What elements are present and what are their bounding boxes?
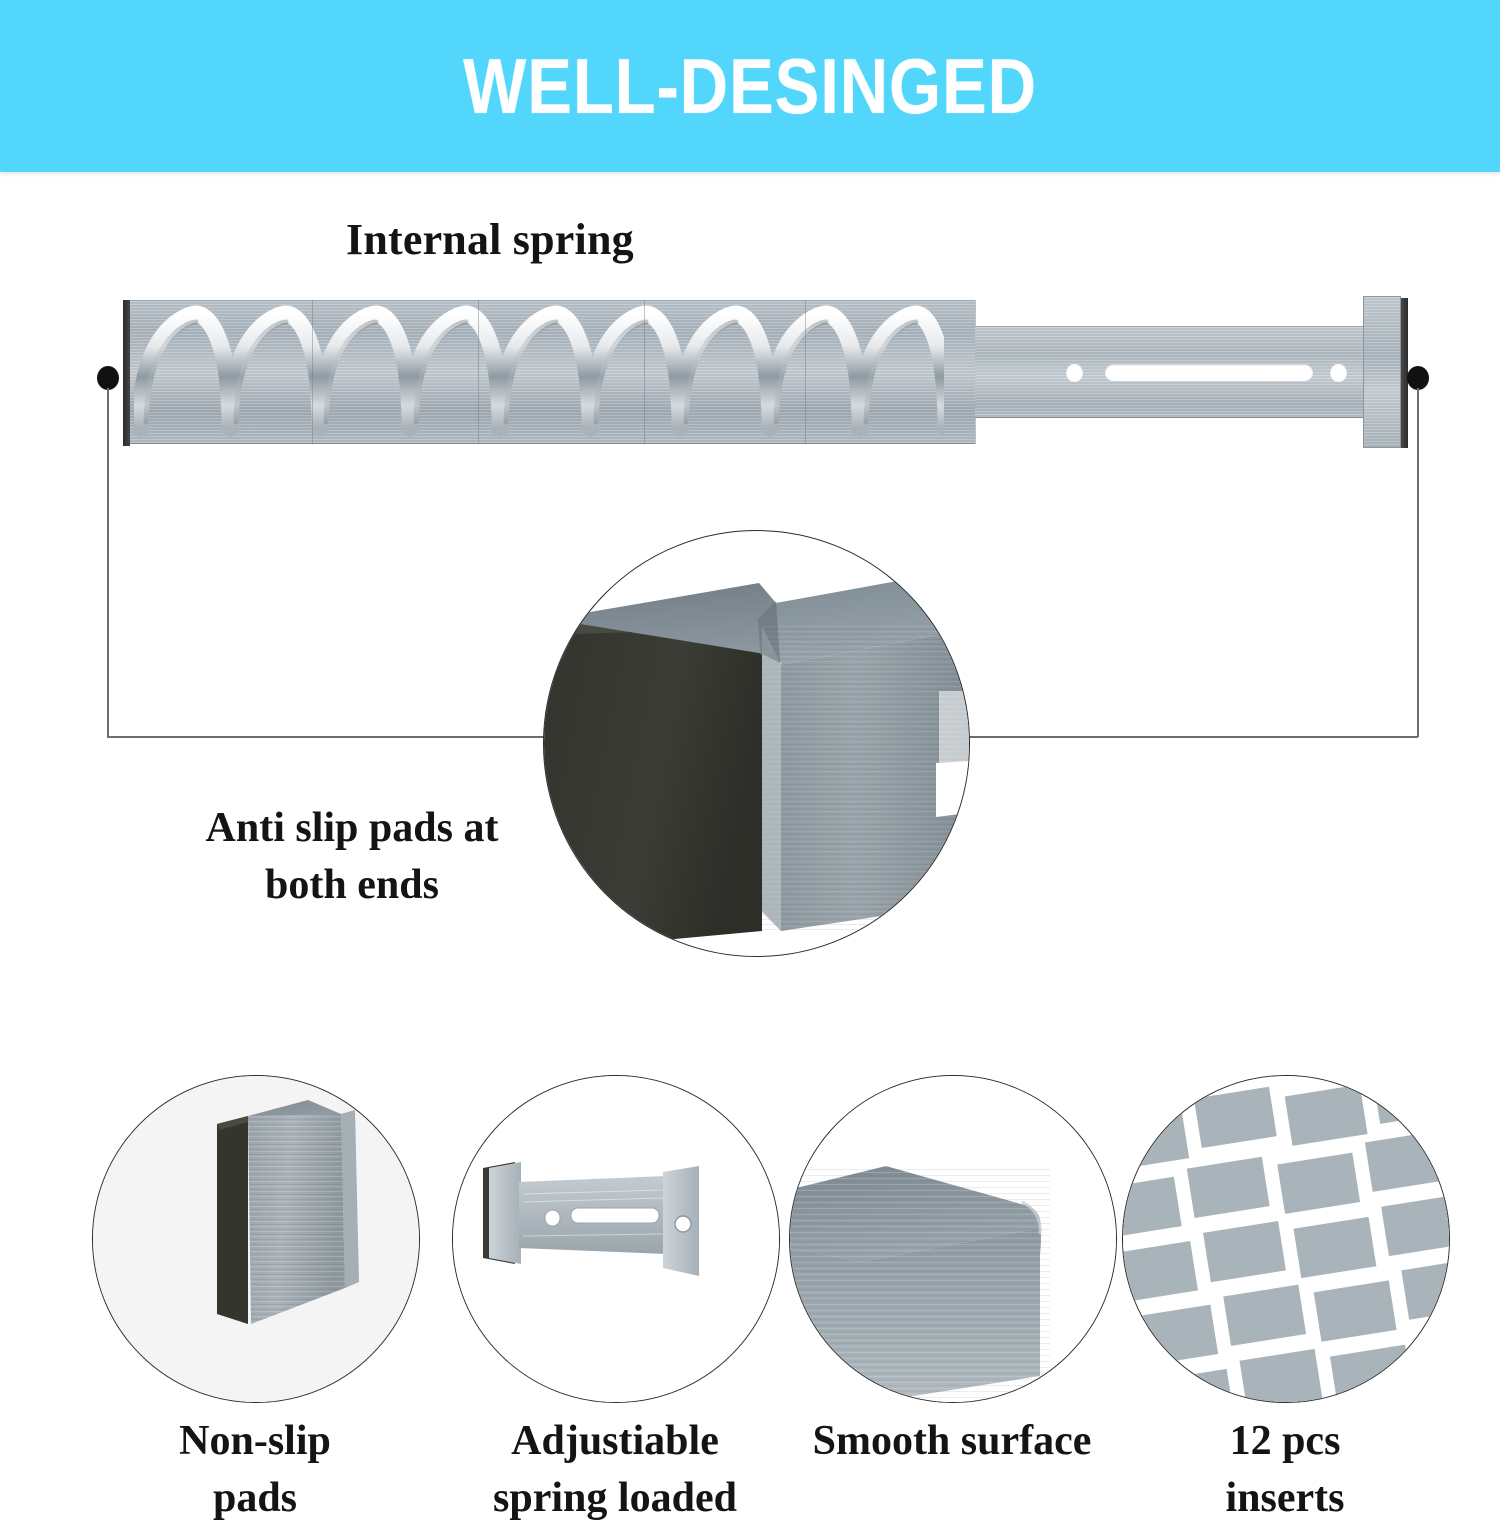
rounded-corner-closeup-icon [790, 1076, 1116, 1402]
screw-hole-left [1066, 363, 1083, 382]
tube-seam-3 [644, 300, 645, 444]
caption-line-1: Adjustiable [424, 1413, 806, 1470]
feature-item-smooth-surface[interactable]: Smooth surface [789, 1075, 1115, 1401]
internal-spring-label: Internal spring [346, 214, 634, 265]
tube-seam-2 [478, 300, 479, 444]
feature-circle-non-slip-pads [92, 1075, 420, 1403]
feature-caption-non-slip-pads: Non-slip pads [64, 1413, 446, 1527]
leader-line-left-vertical [107, 388, 109, 737]
feature-circle-smooth-surface [789, 1075, 1117, 1403]
adjustment-slot [1105, 364, 1313, 381]
feature-circle-12-pcs-inserts [1122, 1075, 1450, 1403]
bar-end-with-dark-pad-icon [93, 1076, 419, 1402]
caption-line-1: Non-slip [64, 1413, 446, 1470]
tube-seam-4 [805, 300, 806, 444]
telescoping-bar-with-slot-icon [453, 1076, 779, 1402]
caption-line-1: 12 pcs [1094, 1413, 1476, 1470]
antislip-label-line-2: both ends [172, 857, 532, 914]
screw-hole-right [1330, 363, 1347, 382]
leader-line-right-vertical [1417, 388, 1419, 737]
antislip-pads-label: Anti slip pads at both ends [172, 800, 532, 913]
antislip-pad-callout-circle [543, 530, 970, 957]
leader-line-right-horizontal [925, 736, 1418, 738]
leader-dot-right [1407, 366, 1429, 390]
leader-dot-left [97, 366, 119, 390]
product-stage: Internal spring [0, 0, 1500, 1500]
grid-of-inserts-icon [1123, 1076, 1449, 1402]
feature-row: Non-slip pads [0, 1075, 1500, 1500]
feature-circle-adjustable-spring-loaded [452, 1075, 780, 1403]
feature-caption-12-pcs-inserts: 12 pcs inserts [1094, 1413, 1476, 1527]
leader-line-left-horizontal [107, 736, 597, 738]
caption-line-2: inserts [1094, 1470, 1476, 1527]
feature-item-adjustable-spring-loaded[interactable]: Adjustiable spring loaded [452, 1075, 778, 1401]
bar-right-flange [1363, 296, 1401, 448]
tube-seam-1 [312, 300, 313, 444]
caption-line-1: Smooth surface [761, 1413, 1143, 1470]
antislip-pad-closeup-art [544, 531, 969, 956]
antislip-label-line-1: Anti slip pads at [172, 800, 532, 857]
feature-caption-smooth-surface: Smooth surface [761, 1413, 1143, 1470]
feature-item-non-slip-pads[interactable]: Non-slip pads [92, 1075, 418, 1401]
internal-spring-coils [134, 304, 944, 440]
bar-left-end-cap [123, 300, 130, 446]
caption-line-2: spring loaded [424, 1470, 806, 1527]
product-bar-assembly [130, 296, 1390, 456]
caption-line-2: pads [64, 1470, 446, 1527]
feature-caption-adjustable-spring-loaded: Adjustiable spring loaded [424, 1413, 806, 1527]
feature-item-12-pcs-inserts[interactable]: 12 pcs inserts [1122, 1075, 1448, 1401]
